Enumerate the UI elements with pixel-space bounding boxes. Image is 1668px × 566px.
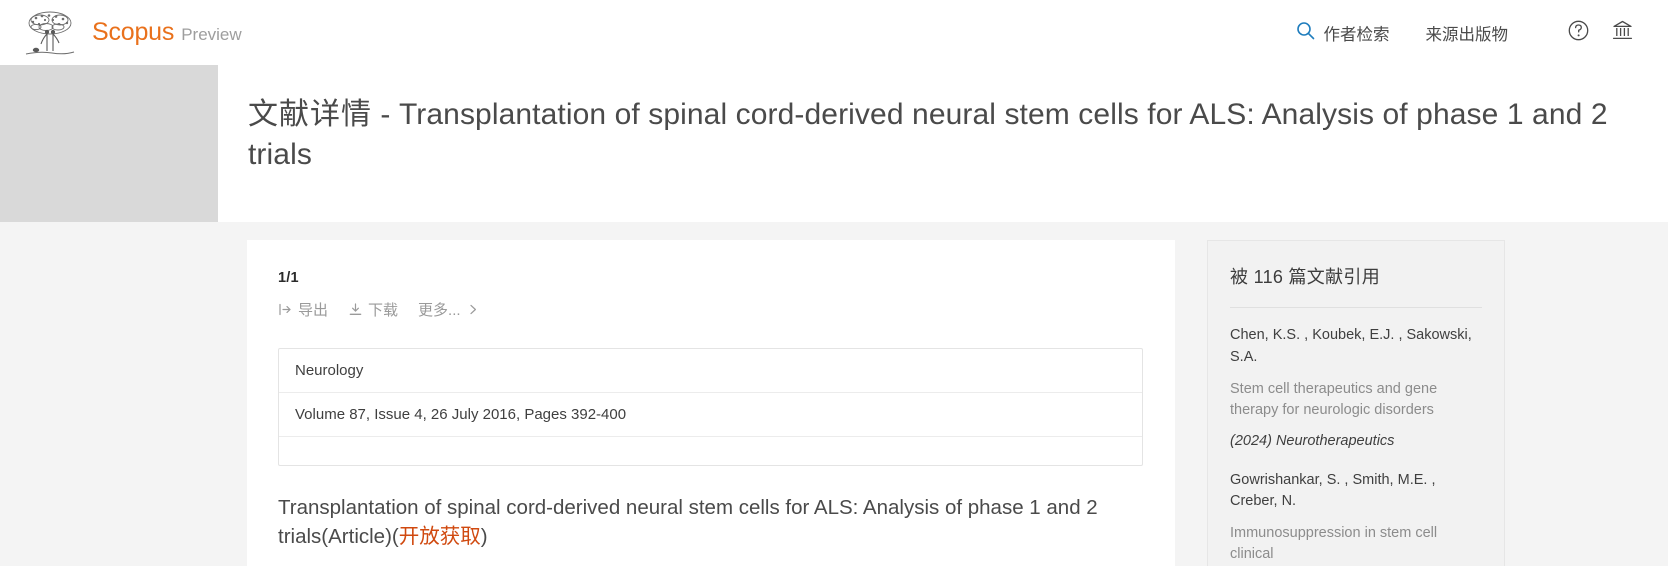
journal-info-box: Neurology Volume 87, Issue 4, 26 July 20… [278, 348, 1143, 466]
chevron-right-icon [468, 303, 478, 316]
cited-by-title: 被 116 篇文献引用 [1230, 263, 1482, 308]
scopus-brand[interactable]: Scopus Preview [22, 8, 242, 58]
citation-authors[interactable]: Gowrishankar, S. , Smith, M.E. , Creber,… [1230, 470, 1482, 514]
nav-sources-label: 来源出版物 [1426, 21, 1509, 45]
page-title-wrap: 文献详情 - Transplantation of spinal cord-de… [218, 65, 1668, 222]
title-image-placeholder [0, 65, 218, 222]
search-icon [1296, 21, 1315, 45]
page-title-band: 文献详情 - Transplantation of spinal cord-de… [0, 65, 1668, 222]
citation-item: Chen, K.S. , Koubek, E.J. , Sakowski, S.… [1230, 308, 1482, 449]
journal-volume-info: Volume 87, Issue 4, 26 July 2016, Pages … [279, 393, 1142, 437]
citation-source: (2024) Neurotherapeutics [1230, 433, 1482, 449]
scopus-tree-logo-icon [22, 8, 78, 58]
journal-box-spacer [279, 437, 1142, 465]
page-title: 文献详情 - Transplantation of spinal cord-de… [248, 95, 1628, 175]
question-mark-circle-icon [1567, 19, 1590, 47]
more-label: 更多... [418, 299, 461, 320]
citation-title[interactable]: Immunosuppression in stem cell clinical [1230, 523, 1482, 565]
open-access-badge[interactable]: 开放获取 [399, 525, 481, 548]
export-label: 导出 [298, 299, 328, 320]
help-button[interactable] [1556, 13, 1600, 53]
document-title: Transplantation of spinal cord-derived n… [278, 494, 1143, 551]
left-gutter [0, 240, 247, 566]
citation-authors[interactable]: Chen, K.S. , Koubek, E.J. , Sakowski, S.… [1230, 325, 1482, 369]
page-title-separator: - [372, 98, 399, 131]
export-arrow-icon [278, 302, 293, 317]
brand-preview-label: Preview [181, 25, 241, 45]
institution-bank-icon [1611, 19, 1634, 47]
more-actions-button[interactable]: 更多... [418, 299, 478, 320]
top-navigation: 作者检索 来源出版物 [1278, 13, 1645, 53]
nav-author-search[interactable]: 作者检索 [1278, 15, 1408, 51]
brand-name: Scopus [92, 18, 174, 47]
cited-by-sidebar: 被 116 篇文献引用 Chen, K.S. , Koubek, E.J. , … [1207, 240, 1505, 566]
page-title-prefix: 文献详情 [248, 98, 372, 131]
result-pager: 1/1 [278, 270, 1143, 286]
nav-sources[interactable]: 来源出版物 [1408, 15, 1527, 51]
download-button[interactable]: 下载 [348, 299, 398, 320]
top-header-bar: Scopus Preview 作者检索 来源出版物 [0, 0, 1668, 65]
citation-item: Gowrishankar, S. , Smith, M.E. , Creber,… [1230, 453, 1482, 566]
download-label: 下载 [368, 299, 398, 320]
journal-name[interactable]: Neurology [279, 349, 1142, 393]
document-type-label: (Article) [321, 525, 392, 548]
document-actions-toolbar: 导出 下载 更多... [278, 299, 1143, 320]
export-button[interactable]: 导出 [278, 299, 328, 320]
nav-author-search-label: 作者检索 [1324, 21, 1390, 45]
document-content-card: 1/1 导出 [247, 240, 1175, 566]
open-access-paren-open: ( [392, 525, 399, 548]
citation-title[interactable]: Stem cell therapeutics and gene therapy … [1230, 379, 1482, 421]
page-title-main: Transplantation of spinal cord-derived n… [248, 98, 1608, 171]
brand-text: Scopus Preview [92, 18, 242, 47]
institution-button[interactable] [1600, 13, 1644, 53]
download-icon [348, 302, 363, 317]
open-access-paren-close: ) [481, 525, 488, 548]
page-body: 1/1 导出 [0, 222, 1668, 566]
